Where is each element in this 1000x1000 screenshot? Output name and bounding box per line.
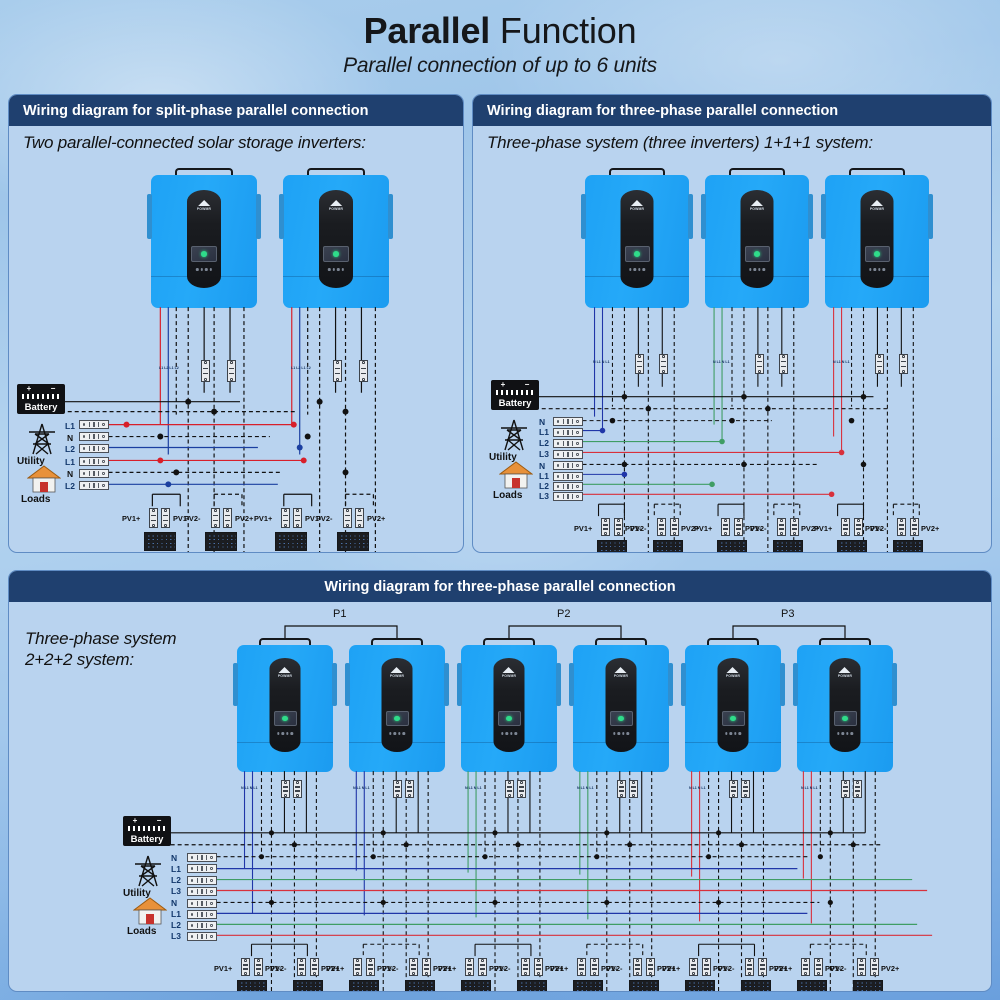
loads-phase-l3: L3 [539, 492, 549, 501]
inverter-terminal-label: N L1 N L1 [689, 786, 706, 790]
pv-terminal-right: PV2+ [921, 524, 939, 533]
circuit-breaker-icon [899, 354, 908, 374]
pv-terminal-left: PV2- [316, 514, 332, 523]
pv-breaker-icon [790, 518, 799, 536]
pv-breaker-icon [409, 958, 418, 976]
loads-phase-n: N [539, 462, 545, 471]
pv-breaker-icon [741, 780, 750, 798]
pv-breaker-icon [223, 508, 232, 528]
pv-terminal-left: PV2- [184, 514, 200, 523]
pv-breaker-icon [293, 508, 302, 528]
battery-label: Battery [131, 834, 164, 846]
pv-breaker-icon [590, 958, 599, 976]
pv-terminal-left: PV1+ [662, 964, 680, 973]
utility-phase-l3: L3 [539, 450, 549, 459]
pv-module-icon [653, 540, 683, 553]
pv-breaker-icon [702, 958, 711, 976]
pv-module-icon [349, 980, 379, 992]
pv-breaker-icon [670, 518, 679, 536]
pv-breaker-icon [870, 958, 879, 976]
loads-phase-l1: L1 [171, 910, 181, 919]
utility-phase-n: N [67, 434, 73, 443]
pv-terminal-left: PV2- [830, 964, 846, 973]
pv-breaker-icon [814, 958, 823, 976]
inverter-terminal-label: N L1 N L1 [465, 786, 482, 790]
loads-label: Loads [493, 490, 522, 501]
pv-breaker-icon [617, 780, 626, 798]
terminal-block [79, 457, 109, 466]
pv-terminal-left: PV1+ [214, 964, 232, 973]
loads-phase-l1: L1 [539, 472, 549, 481]
panel-split-phase-body: Two parallel-connected solar storage inv… [9, 126, 463, 552]
circuit-breaker-icon [227, 360, 236, 382]
circuit-breaker-icon [779, 354, 788, 374]
loads-phase-l2: L2 [539, 482, 549, 491]
terminal-block [553, 428, 583, 437]
inverter-terminal-label: N L1 N L1 [801, 786, 818, 790]
panel-three-phase-222: Wiring diagram for three-phase parallel … [8, 570, 992, 992]
terminal-block [553, 482, 583, 491]
pv-terminal-left: PV2- [718, 964, 734, 973]
pv-terminal-left: PV1+ [326, 964, 344, 973]
page-subtitle: Parallel connection of up to 6 units [0, 54, 1000, 78]
terminal-block [553, 472, 583, 481]
pv-module-icon [405, 980, 435, 992]
house-loads-icon [27, 464, 61, 494]
panel-split-phase: Wiring diagram for split-phase parallel … [8, 94, 464, 553]
pv-module-icon [773, 540, 803, 553]
terminal-block [187, 887, 217, 896]
pv-terminal-left: PV2- [270, 964, 286, 973]
pv-breaker-icon [241, 958, 250, 976]
page-title: Parallel Function [0, 0, 1000, 52]
loads-phase-l3: L3 [171, 932, 181, 941]
loads-phase-l2: L2 [171, 921, 181, 930]
house-loads-icon [133, 896, 167, 926]
wiring-lines-three-phase-111 [473, 126, 991, 552]
wiring-lines-split-phase [9, 126, 463, 552]
utility-phase-n: N [171, 854, 177, 863]
utility-pylon-icon [23, 422, 61, 456]
pv-breaker-icon [297, 958, 306, 976]
utility-phase-l2: L2 [539, 439, 549, 448]
terminal-block [553, 492, 583, 501]
pv-breaker-icon [633, 958, 642, 976]
pv-terminal-left: PV2- [750, 524, 766, 533]
pv-breaker-icon [601, 518, 610, 536]
loads-phase-n: N [67, 470, 73, 479]
utility-pylon-icon [129, 854, 167, 888]
pv-module-icon [837, 540, 867, 553]
terminal-block [79, 420, 109, 429]
pv-breaker-icon [366, 958, 375, 976]
battery-icon: +− Battery [17, 384, 65, 414]
terminal-block [187, 876, 217, 885]
pv-module-icon [629, 980, 659, 992]
pv-breaker-icon [254, 958, 263, 976]
utility-pylon-icon [495, 418, 533, 452]
terminal-block [79, 481, 109, 490]
utility-phase-l3: L3 [171, 887, 181, 896]
pv-module-icon [337, 532, 369, 551]
pv-module-icon [237, 980, 267, 992]
pv-module-icon [893, 540, 923, 553]
pv-terminal-left: PV2- [870, 524, 886, 533]
terminal-block [187, 921, 217, 930]
pv-breaker-icon [721, 518, 730, 536]
pv-terminal-right: PV2+ [367, 514, 385, 523]
terminal-block [187, 932, 217, 941]
pv-module-icon [275, 532, 307, 551]
pv-breaker-icon [841, 518, 850, 536]
pv-terminal-left: PV1+ [438, 964, 456, 973]
pv-breaker-icon [465, 958, 474, 976]
circuit-breaker-icon [201, 360, 210, 382]
pv-breaker-icon [614, 518, 623, 536]
circuit-breaker-icon [635, 354, 644, 374]
pv-module-icon [573, 980, 603, 992]
circuit-breaker-icon [333, 360, 342, 382]
pv-breaker-icon [729, 780, 738, 798]
pv-breaker-icon [577, 958, 586, 976]
pv-breaker-icon [646, 958, 655, 976]
pv-breaker-icon [629, 780, 638, 798]
pv-breaker-icon [149, 508, 158, 528]
pv-terminal-left: PV2- [606, 964, 622, 973]
utility-phase-l1: L1 [539, 428, 549, 437]
terminal-block [187, 910, 217, 919]
pv-breaker-icon [897, 518, 906, 536]
circuit-breaker-icon [359, 360, 368, 382]
pv-terminal-left: PV1+ [814, 524, 832, 533]
pv-terminal-left: PV1+ [694, 524, 712, 533]
loads-label: Loads [21, 494, 50, 505]
pv-terminal-left: PV1+ [774, 964, 792, 973]
battery-label: Battery [25, 402, 58, 414]
page-title-rest: Function [490, 10, 636, 51]
pv-terminal-left: PV1+ [550, 964, 568, 973]
inverter-terminal-label: N L1 N L1 [713, 360, 730, 364]
pv-breaker-icon [657, 518, 666, 536]
pv-module-icon [717, 540, 747, 553]
pv-breaker-icon [281, 780, 290, 798]
pv-breaker-icon [521, 958, 530, 976]
pv-breaker-icon [353, 958, 362, 976]
terminal-block [187, 853, 217, 862]
pv-breaker-icon [910, 518, 919, 536]
utility-phase-l2: L2 [171, 876, 181, 885]
pv-terminal-left: PV2- [494, 964, 510, 973]
pv-breaker-icon [777, 518, 786, 536]
terminal-block [79, 444, 109, 453]
pv-module-icon [741, 980, 771, 992]
pv-breaker-icon [281, 508, 290, 528]
panel-split-phase-header: Wiring diagram for split-phase parallel … [9, 95, 463, 126]
pv-module-icon [205, 532, 237, 551]
utility-phase-l2: L2 [65, 445, 75, 454]
loads-phase-l1: L1 [65, 458, 75, 467]
pv-terminal-left: PV1+ [254, 514, 272, 523]
terminal-block [553, 461, 583, 470]
loads-label: Loads [127, 926, 156, 937]
pv-breaker-icon [734, 518, 743, 536]
panel-three-phase-111-header: Wiring diagram for three-phase parallel … [473, 95, 991, 126]
pv-breaker-icon [211, 508, 220, 528]
pv-breaker-icon [343, 508, 352, 528]
pv-breaker-icon [854, 518, 863, 536]
house-loads-icon [499, 460, 533, 490]
pv-terminal-left: PV1+ [574, 524, 592, 533]
pv-breaker-icon [161, 508, 170, 528]
pv-module-icon [597, 540, 627, 553]
pv-breaker-icon [405, 780, 414, 798]
terminal-block [187, 899, 217, 908]
panel-three-phase-222-header: Wiring diagram for three-phase parallel … [9, 571, 991, 602]
pv-terminal-right: PV2+ [235, 514, 253, 523]
inverter-terminal-label: N L1 N L1 [593, 360, 610, 364]
circuit-breaker-icon [659, 354, 668, 374]
pv-module-icon [517, 980, 547, 992]
utility-phase-l1: L1 [171, 865, 181, 874]
terminal-block [79, 469, 109, 478]
loads-phase-l2: L2 [65, 482, 75, 491]
loads-phase-n: N [171, 899, 177, 908]
pv-module-icon [293, 980, 323, 992]
pv-terminal-left: PV2- [382, 964, 398, 973]
pv-module-icon [685, 980, 715, 992]
pv-module-icon [144, 532, 176, 551]
pv-module-icon [461, 980, 491, 992]
pv-breaker-icon [841, 780, 850, 798]
terminal-block [553, 439, 583, 448]
panel-three-phase-111: Wiring diagram for three-phase parallel … [472, 94, 992, 553]
circuit-breaker-icon [875, 354, 884, 374]
pv-breaker-icon [534, 958, 543, 976]
inverter-terminal-label: L1 L2 L1 L2 [291, 366, 311, 370]
pv-breaker-icon [505, 780, 514, 798]
pv-breaker-icon [478, 958, 487, 976]
battery-icon: +− Battery [491, 380, 539, 410]
pv-breaker-icon [853, 780, 862, 798]
pv-breaker-icon [310, 958, 319, 976]
terminal-block [553, 450, 583, 459]
pv-module-icon [853, 980, 883, 992]
pv-breaker-icon [801, 958, 810, 976]
pv-breaker-icon [393, 780, 402, 798]
terminal-block [79, 432, 109, 441]
pv-breaker-icon [355, 508, 364, 528]
pv-terminal-right: PV2+ [881, 964, 899, 973]
utility-phase-l1: L1 [65, 422, 75, 431]
panel-three-phase-111-body: Three-phase system (three inverters) 1+1… [473, 126, 991, 552]
inverter-terminal-label: N L1 N L1 [577, 786, 594, 790]
pv-breaker-icon [422, 958, 431, 976]
battery-icon: +− Battery [123, 816, 171, 846]
terminal-block [187, 864, 217, 873]
inverter-terminal-label: L1 L2 L1 L2 [159, 366, 179, 370]
pv-module-icon [797, 980, 827, 992]
pv-breaker-icon [293, 780, 302, 798]
pv-breaker-icon [745, 958, 754, 976]
page-title-bold: Parallel [364, 10, 491, 51]
terminal-block [553, 417, 583, 426]
pv-breaker-icon [758, 958, 767, 976]
pv-terminal-left: PV1+ [122, 514, 140, 523]
circuit-breaker-icon [755, 354, 764, 374]
inverter-terminal-label: N L1 N L1 [353, 786, 370, 790]
utility-phase-n: N [539, 418, 545, 427]
inverter-terminal-label: N L1 N L1 [241, 786, 258, 790]
panel-three-phase-222-body: Three-phase system 2+2+2 system: P1P2P3 … [9, 602, 991, 991]
pv-breaker-icon [689, 958, 698, 976]
pv-breaker-icon [517, 780, 526, 798]
battery-label: Battery [499, 398, 532, 410]
inverter-terminal-label: N L1 N L1 [833, 360, 850, 364]
pv-terminal-left: PV2- [630, 524, 646, 533]
page-header: Parallel Function Parallel connection of… [0, 0, 1000, 92]
pv-breaker-icon [857, 958, 866, 976]
